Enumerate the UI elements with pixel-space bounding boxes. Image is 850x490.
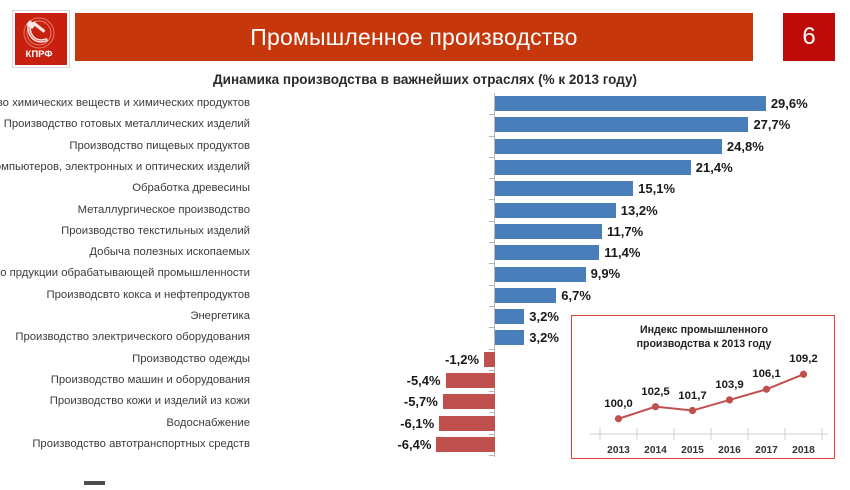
bar xyxy=(495,96,766,111)
bar-value-label: 11,7% xyxy=(607,221,643,242)
inset-data-value-label: 101,7 xyxy=(668,390,718,402)
inset-data-value-label: 106,1 xyxy=(742,368,792,380)
bar-value-label: -6,4% xyxy=(0,434,431,455)
bar-value-label: -6,1% xyxy=(0,413,434,434)
bar-value-label: -5,4% xyxy=(0,370,441,391)
header-title-bar: Промышленное производство xyxy=(75,13,753,61)
inset-data-marker xyxy=(615,415,622,422)
bar-category-label: Обработка древесины xyxy=(0,178,250,199)
bar-value-label: -5,7% xyxy=(0,391,438,412)
inset-data-value-label: 100,0 xyxy=(594,398,644,410)
bar xyxy=(446,373,495,388)
inset-x-tick-label: 2016 xyxy=(710,445,750,456)
bar xyxy=(495,139,722,154)
bar xyxy=(495,117,748,132)
bar-row: Добыча полезных ископаемых11,4% xyxy=(0,242,850,263)
bar xyxy=(484,352,495,367)
inset-x-tick-label: 2013 xyxy=(599,445,639,456)
bar xyxy=(436,437,495,452)
bar xyxy=(495,330,524,345)
industrial-production-index-panel: Индекс промышленного производства к 2013… xyxy=(571,315,835,459)
inset-data-marker xyxy=(652,403,659,410)
bar xyxy=(495,160,691,175)
svg-text:КПРФ: КПРФ xyxy=(26,49,53,60)
page-number: 6 xyxy=(802,23,815,51)
bar-category-label: Производство текстильных изделий xyxy=(0,221,250,242)
bar xyxy=(439,416,495,431)
inset-x-tick-label: 2018 xyxy=(784,445,824,456)
page-number-box: 6 xyxy=(783,13,835,61)
bar-row: Производство прдукции обрабатывающей про… xyxy=(0,263,850,284)
bar xyxy=(443,394,495,409)
inset-data-value-label: 109,2 xyxy=(779,353,829,365)
inset-line-plot: 201320142015201620172018100,0102,5101,71… xyxy=(572,316,836,460)
bar-row: Производство химических веществ и химиче… xyxy=(0,93,850,114)
bar-row: Металлургическое производство13,2% xyxy=(0,200,850,221)
inset-data-marker xyxy=(726,396,733,403)
bar-value-label: 13,2% xyxy=(621,200,658,221)
bar-row: Обработка древесины15,1% xyxy=(0,178,850,199)
bar xyxy=(495,309,524,324)
bar-category-label: Добыча полезных ископаемых xyxy=(0,242,250,263)
bar-value-label: 11,4% xyxy=(604,242,640,263)
inset-x-tick-label: 2017 xyxy=(747,445,787,456)
bar xyxy=(495,203,616,218)
bar xyxy=(495,267,586,282)
bar-value-label: 24,8% xyxy=(727,136,764,157)
bar xyxy=(495,224,602,239)
page-title: Промышленное производство xyxy=(250,24,577,51)
bar-category-label: Энергетика xyxy=(0,306,250,327)
kprf-logo: КПРФ xyxy=(13,11,69,67)
bar-value-label: 3,2% xyxy=(529,306,559,327)
bar-row: Производство готовых металлических издел… xyxy=(0,114,850,135)
bar-value-label: 15,1% xyxy=(638,178,675,199)
bottom-stray-mark xyxy=(84,481,105,485)
bar xyxy=(495,245,599,260)
bar xyxy=(495,288,556,303)
inset-data-marker xyxy=(763,386,770,393)
bar-category-label: Производство готовых металлических издел… xyxy=(0,114,250,135)
bar-category-label: Производство пищевых продуктов xyxy=(0,136,250,157)
hammer-and-sickle-icon: КПРФ xyxy=(15,13,63,61)
bar-category-label: Производство прдукции обрабатывающей про… xyxy=(0,263,250,284)
chart-title: Динамика производства в важнейших отрасл… xyxy=(0,72,850,87)
bar-category-label: Металлургическое производство xyxy=(0,200,250,221)
bar-row: Производство пищевых продуктов24,8% xyxy=(0,136,850,157)
bar-value-label: 27,7% xyxy=(753,114,790,135)
bar-row: Производство текстильных изделий11,7% xyxy=(0,221,850,242)
bar-category-label: Производство электрического оборудования xyxy=(0,327,250,348)
bar-value-label: 29,6% xyxy=(771,93,808,114)
bar xyxy=(495,181,633,196)
bar-value-label: 21,4% xyxy=(696,157,733,178)
bar-value-label: 3,2% xyxy=(529,327,559,348)
bar-category-label: Производство компьютеров, электронных и … xyxy=(0,157,250,178)
axis-tick xyxy=(489,455,494,456)
bar-value-label: -1,2% xyxy=(0,349,479,370)
inset-data-marker xyxy=(689,407,696,414)
slide-header: КПРФ Промышленное производство 6 xyxy=(0,0,850,68)
inset-x-tick-label: 2015 xyxy=(673,445,713,456)
inset-data-marker xyxy=(800,371,807,378)
inset-data-value-label: 103,9 xyxy=(705,379,755,391)
bar-category-label: Производство химических веществ и химиче… xyxy=(0,93,250,114)
inset-x-tick-label: 2014 xyxy=(636,445,676,456)
bar-row: Производсвто кокса и нефтепродуктов6,7% xyxy=(0,285,850,306)
bar-category-label: Производсвто кокса и нефтепродуктов xyxy=(0,285,250,306)
bar-value-label: 9,9% xyxy=(591,263,621,284)
bar-value-label: 6,7% xyxy=(561,285,591,306)
bar-row: Производство компьютеров, электронных и … xyxy=(0,157,850,178)
